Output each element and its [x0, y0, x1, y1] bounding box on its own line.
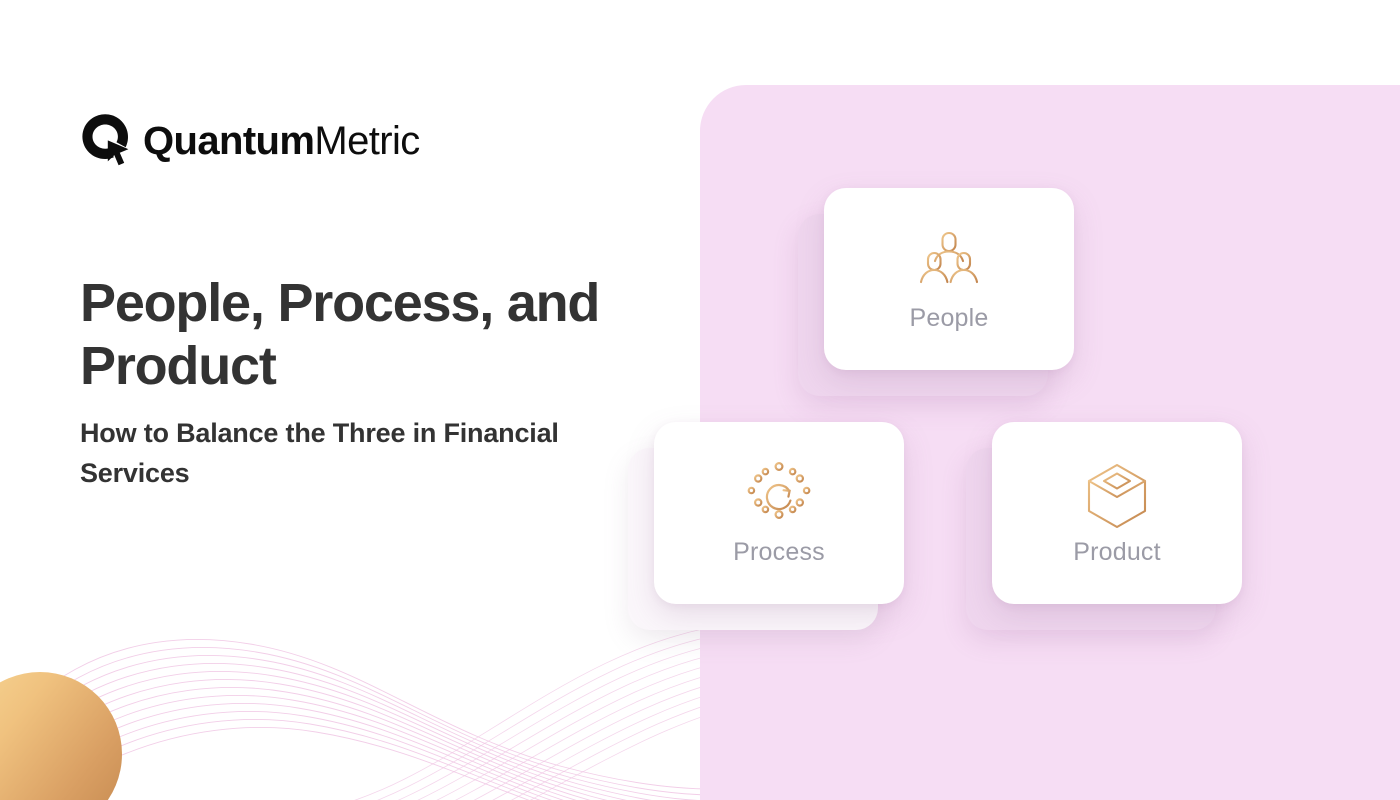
product-box-icon — [1081, 460, 1153, 532]
quantum-q-cursor-mark — [80, 112, 142, 170]
brand-name-bold: Quantum — [143, 119, 314, 163]
card-process-front[interactable]: Process — [654, 422, 904, 604]
brand-logo[interactable]: QuantumMetric — [80, 112, 420, 170]
card-people-front[interactable]: People — [824, 188, 1074, 370]
page-subtitle: How to Balance the Three in Financial Se… — [80, 414, 610, 494]
page-title: People, Process, and Product — [80, 272, 640, 397]
gold-gradient-circle — [0, 672, 122, 800]
card-people-label: People — [909, 304, 988, 333]
card-product-front[interactable]: Product — [992, 422, 1242, 604]
process-refresh-icon — [743, 460, 815, 532]
brand-wordmark: QuantumMetric — [143, 119, 420, 164]
slide-canvas: QuantumMetric People, Process, and Produ… — [0, 0, 1400, 800]
brand-name-light: Metric — [314, 119, 419, 163]
people-group-icon — [913, 226, 985, 298]
card-product-label: Product — [1073, 538, 1161, 567]
card-process-label: Process — [733, 538, 825, 567]
